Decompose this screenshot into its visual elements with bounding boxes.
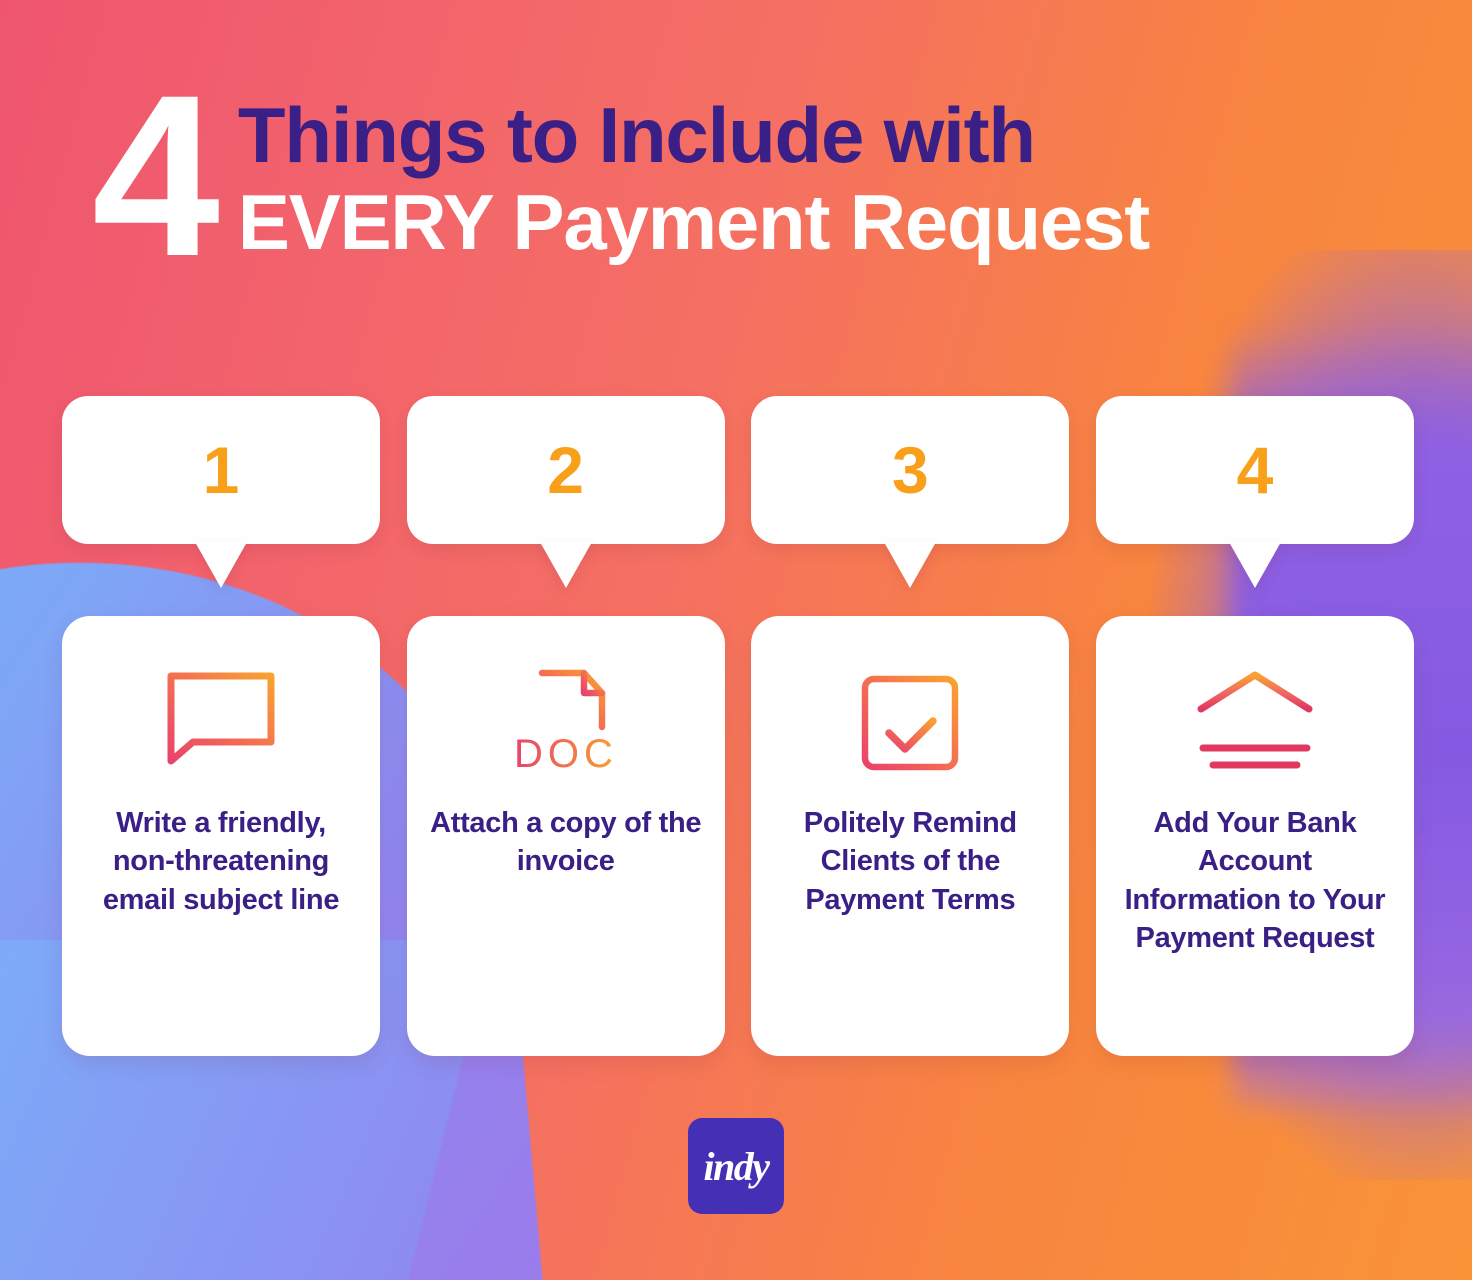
step-column-2: 2 DOC Attach a copy of the invoice	[407, 396, 725, 1056]
step-label-1: Write a friendly, non-threatening email …	[84, 804, 358, 919]
step-bubble-3: 3	[751, 396, 1069, 544]
step-column-1: 1 Write a friendly, non-threatening emai…	[62, 396, 380, 1056]
step-number-3: 3	[892, 437, 929, 503]
steps-row: 1 Write a friendly, non-threatening emai…	[62, 396, 1414, 1056]
step-label-2: Attach a copy of the invoice	[429, 804, 703, 881]
step-card-2: DOC Attach a copy of the invoice	[407, 616, 725, 1056]
step-bubble-2: 2	[407, 396, 725, 544]
step-label-3: Politely Remind Clients of the Payment T…	[773, 804, 1047, 919]
step-bubble-4: 4	[1096, 396, 1414, 544]
headline-big-number: 4	[92, 82, 212, 271]
step-bubble-body-4: 4	[1096, 396, 1414, 544]
headline-line-1: Things to Include with	[238, 92, 1149, 179]
step-bubble-tail-2	[540, 542, 592, 588]
headline-line-2: EVERY Payment Request	[238, 179, 1149, 266]
step-bubble-body-2: 2	[407, 396, 725, 544]
calendar-check-icon	[851, 660, 969, 778]
bank-building-icon	[1187, 660, 1323, 778]
step-label-4: Add Your Bank Account Information to You…	[1118, 804, 1392, 957]
step-bubble-tail-1	[195, 542, 247, 588]
step-bubble-body-1: 1	[62, 396, 380, 544]
step-card-3: Politely Remind Clients of the Payment T…	[751, 616, 1069, 1056]
step-number-1: 1	[203, 437, 240, 503]
step-card-1: Write a friendly, non-threatening email …	[62, 616, 380, 1056]
doc-icon-text: DOC	[514, 732, 618, 775]
step-column-4: 4 Add Your Bank	[1096, 396, 1414, 1056]
chat-bubble-icon	[157, 660, 285, 778]
step-card-4: Add Your Bank Account Information to You…	[1096, 616, 1414, 1056]
step-bubble-tail-3	[884, 542, 936, 588]
indy-logo[interactable]: indy	[688, 1118, 784, 1214]
poster-header: 4 Things to Include with EVERY Payment R…	[0, 74, 1472, 271]
step-bubble-1: 1	[62, 396, 380, 544]
step-bubble-body-3: 3	[751, 396, 1069, 544]
step-number-4: 4	[1237, 437, 1274, 503]
headline-title-block: Things to Include with EVERY Payment Req…	[238, 74, 1149, 267]
infographic-poster: 4 Things to Include with EVERY Payment R…	[0, 0, 1472, 1280]
indy-logo-text: indy	[703, 1143, 768, 1190]
step-number-2: 2	[547, 437, 584, 503]
step-column-3: 3 Politely Remind Clients of the Payment…	[751, 396, 1069, 1056]
step-bubble-tail-4	[1229, 542, 1281, 588]
document-doc-icon: DOC	[502, 660, 630, 778]
